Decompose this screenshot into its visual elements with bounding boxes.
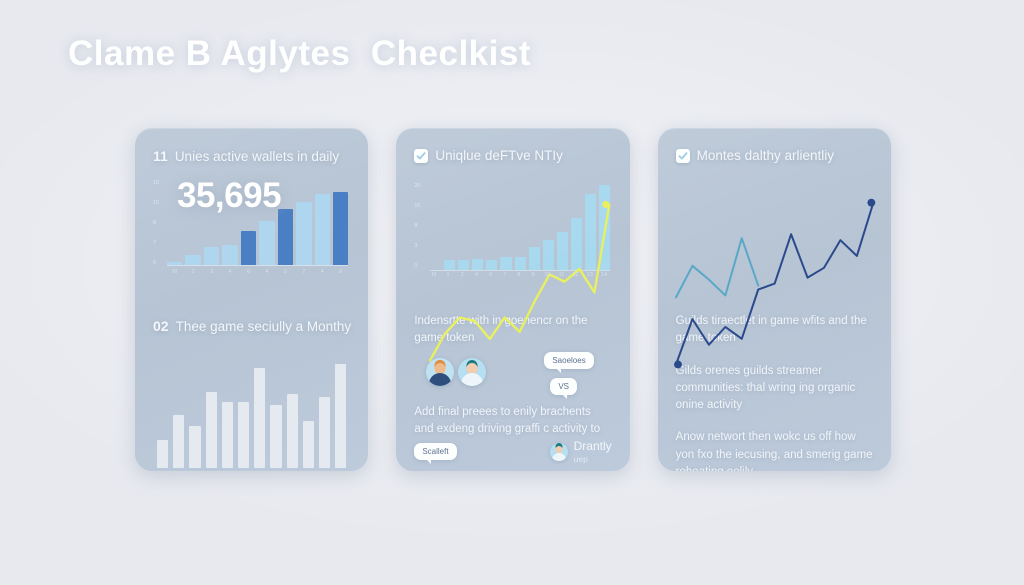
monthly-title: Thee game seciully a Monthy [176,319,352,334]
chart3-xtick: 2 [457,272,468,278]
chart1-ytick: 10 [153,180,159,186]
defi-tag-sub: uep [574,454,612,464]
card-defi-nft[interactable]: Uniqlue deFTve NTIy 20 15 8 3 0 M1246789… [396,128,629,471]
chart1-ytick: 8 [153,220,159,226]
card-wallets[interactable]: 11 Unies active wallets in daily 10 15 8… [135,128,368,471]
chart3-xtick: 14 [598,272,609,278]
card-defi-header: Uniqlue deFTve NTIy [414,148,611,163]
chart1-bar [204,247,219,265]
chart3-xtick: 12 [570,272,581,278]
chart2-bar [189,426,200,468]
chart1-bar [333,192,348,265]
chart3-ytick: 8 [414,223,420,229]
chart1-xtick: 2 [204,269,219,275]
card-wallets-index: 11 [153,148,168,164]
defi-tag: Drantly uep [574,440,612,464]
chart1-xtick: M [167,269,182,275]
chart3-ytick: 20 [414,183,420,189]
chart1-ytick: 15 [153,200,159,206]
card-container: 11 Unies active wallets in daily 10 15 8… [135,128,891,471]
defi-closing-row: Scalleft Drantly uep [414,440,611,464]
chart2-bar [173,415,184,468]
daily-active-wallets-chart: 10 15 8 7 6 35,695 M124642748 [153,174,350,292]
chart3-xtick: 6 [485,272,496,278]
chart2-bar [157,440,168,468]
monthly-index: 02 [153,318,169,334]
chart1-bar [278,209,293,265]
chart3-xtick: 10 [542,272,553,278]
chart3-plot-area [430,183,609,271]
monthly-header: 02 Thee game seciully a Monthy [153,318,350,334]
chart3-ytick: 3 [414,243,420,249]
chart1-xtick: 1 [185,269,200,275]
chart1-bar [241,231,256,265]
card-guilds-header: Montes dalthy arlientliy [676,148,873,163]
card-wallets-title: Unies active wallets in daily [175,149,339,164]
chart3-ytick: 15 [414,203,420,209]
chart1-bar [185,255,200,265]
chart3-x-axis: M12467891011121314 [428,272,609,278]
chart1-y-axis: 10 15 8 7 6 [153,180,159,266]
chart1-xtick: 8 [333,269,348,275]
chart1-xtick: 2 [278,269,293,275]
chart2-bar [254,368,265,468]
chart1-bar [315,194,330,265]
checkbox-checked-icon[interactable] [414,149,428,163]
chart2-bar [319,397,330,468]
chart3-xtick: 8 [513,272,524,278]
card-wallets-header: 11 Unies active wallets in daily [153,148,350,164]
monthly-game-activity-chart [153,356,350,468]
chart4-lines [676,179,873,376]
avatar-player-two [458,358,486,386]
speech-bubble-vs: VS [550,378,577,395]
chart3-xtick: 13 [584,272,595,278]
defi-tag-label: Drantly [574,440,612,454]
card-defi-title: Uniqlue deFTve NTIy [435,148,563,163]
card-guilds[interactable]: Montes dalthy arlientliy Guilds tiraectl… [658,128,891,471]
chart3-xtick: 4 [471,272,482,278]
avatar-player-one [426,358,454,386]
chart3-y-axis: 20 15 8 3 0 [414,183,420,269]
checkbox-checked-icon[interactable] [676,149,690,163]
chart2-bar [303,421,314,468]
chart1-bar [167,262,182,265]
chart3-xtick: 7 [499,272,510,278]
chart3-xtick: 1 [443,272,454,278]
chart1-bar [259,221,274,265]
guilds-paragraph-3: Anow networt then wokc us off how yon fx… [676,429,873,471]
wallets-metric-value: 35,695 [177,176,281,216]
chart2-bar [287,394,298,468]
guild-health-trends-chart [676,179,873,297]
chart1-xtick: 7 [296,269,311,275]
chart3-xtick: 11 [556,272,567,278]
chart2-bar [206,392,217,468]
chart1-ytick: 6 [153,260,159,266]
chart3-xtick: 9 [528,272,539,278]
chart1-bar [296,202,311,265]
card-wallets-subsection: 02 Thee game seciully a Monthy [153,318,350,468]
chart3-ytick: 0 [414,263,420,269]
chart2-bar [222,402,233,468]
avatar-small [550,443,568,461]
chart1-xtick: 4 [315,269,330,275]
page-title: Clame B Aglytes Checlkist [68,34,531,74]
chart1-x-axis: M124642748 [167,269,348,275]
chart1-xtick: 4 [259,269,274,275]
defi-paragraph-2: Add final preees to enily brachents and … [414,404,611,439]
chart2-bar [270,405,281,468]
defi-nft-combo-chart: 20 15 8 3 0 M12467891011121314 [414,177,611,297]
chart1-bar [222,245,237,265]
speech-bubble-saoeloes: Saoeloes [544,352,593,369]
chart1-ytick: 7 [153,240,159,246]
card-guilds-title: Montes dalthy arlientliy [697,148,834,163]
chart2-bar [335,364,346,468]
chart1-xtick: 6 [241,269,256,275]
chart2-bar [238,402,249,468]
speech-bubble-scalleft: Scalleft [414,443,456,460]
chart3-xtick: M [428,272,439,278]
chart1-xtick: 4 [222,269,237,275]
